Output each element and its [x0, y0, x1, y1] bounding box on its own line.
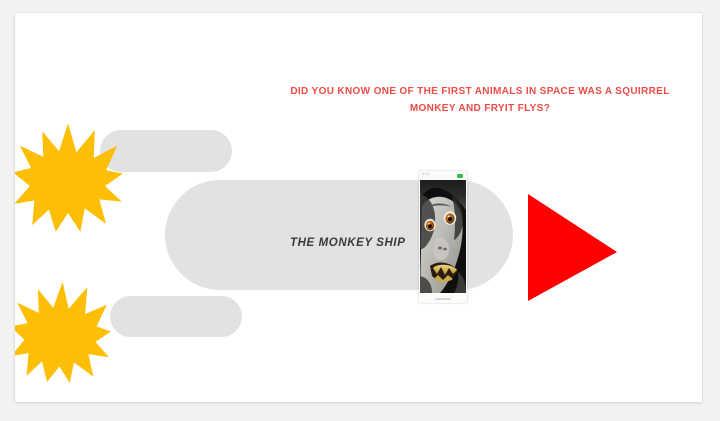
monkey-face-image: [420, 180, 466, 293]
exhaust-triangle-icon: [513, 180, 618, 302]
rocket-name-label: THE MONKEY SHIP: [290, 237, 406, 249]
phone-home-indicator: [435, 298, 451, 300]
starburst-bottom-icon: [15, 281, 112, 384]
battery-icon: [457, 174, 463, 178]
page-title: DID YOU KNOW ONE OF THE FIRST ANIMALS IN…: [270, 83, 690, 117]
rocket-fin-bottom-shape: [110, 296, 242, 337]
phone-status-bar: 9:41: [419, 171, 467, 180]
screenshot-canvas: DID YOU KNOW ONE OF THE FIRST ANIMALS IN…: [0, 0, 720, 421]
presentation-slide[interactable]: DID YOU KNOW ONE OF THE FIRST ANIMALS IN…: [15, 13, 702, 402]
monkey-selfie-photo: [420, 180, 466, 293]
starburst-top-icon: [15, 121, 124, 233]
phone-status-time: 9:41: [422, 172, 429, 176]
phone-mockup[interactable]: 9:41: [419, 171, 467, 303]
